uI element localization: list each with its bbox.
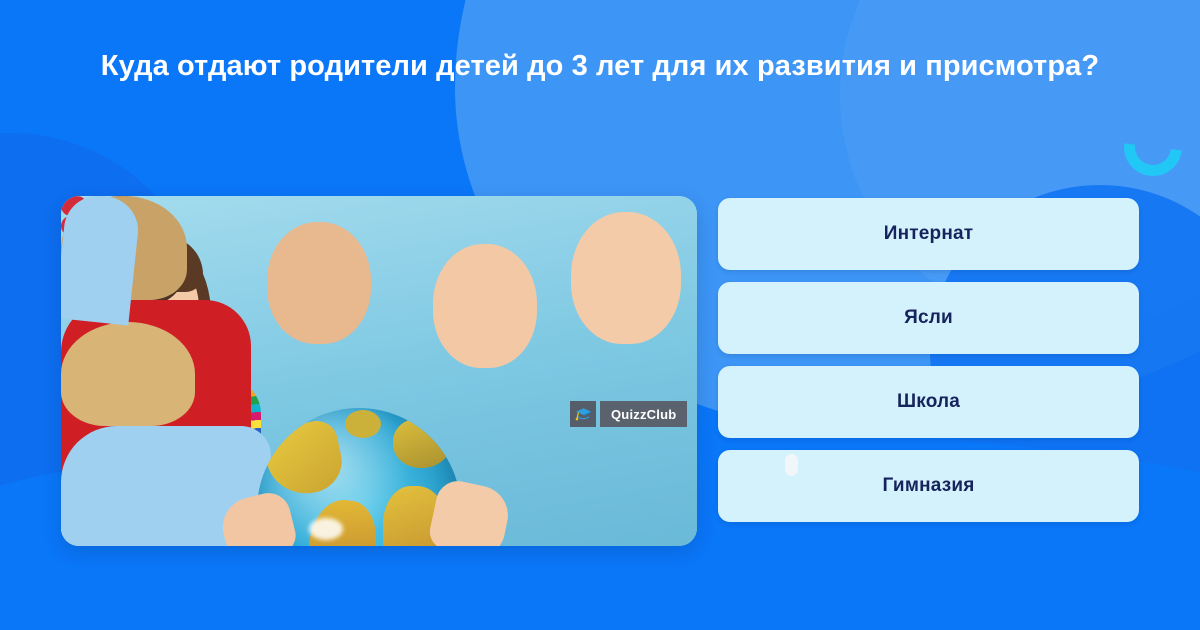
answer-option-2[interactable]: Ясли	[718, 282, 1139, 354]
continent-eurasia	[393, 418, 451, 468]
watermark: QuizzClub	[570, 401, 687, 427]
answer-options: Интернат Ясли Школа Гимназия	[718, 198, 1139, 522]
child-figure-4	[61, 196, 271, 546]
continent-greenland	[345, 410, 381, 438]
hair	[61, 322, 195, 426]
question-image-card: QuizzClub	[61, 196, 697, 546]
globe-highlight	[309, 518, 343, 540]
question-title: Куда отдают родители детей до 3 лет для …	[90, 44, 1110, 89]
graduation-cap-icon	[570, 401, 596, 427]
scroll-handle[interactable]	[785, 454, 798, 476]
answer-option-4[interactable]: Гимназия	[718, 450, 1139, 522]
continent-north-america	[261, 417, 348, 501]
quiz-card: Куда отдают родители детей до 3 лет для …	[0, 0, 1200, 630]
face	[571, 212, 681, 344]
answer-option-3[interactable]: Школа	[718, 366, 1139, 438]
cyan-arc-icon	[1112, 106, 1193, 187]
answer-option-1[interactable]: Интернат	[718, 198, 1139, 270]
watermark-brand: QuizzClub	[600, 401, 687, 427]
face	[433, 244, 537, 368]
face	[267, 222, 371, 344]
arm	[61, 196, 141, 326]
question-photo	[61, 196, 697, 546]
